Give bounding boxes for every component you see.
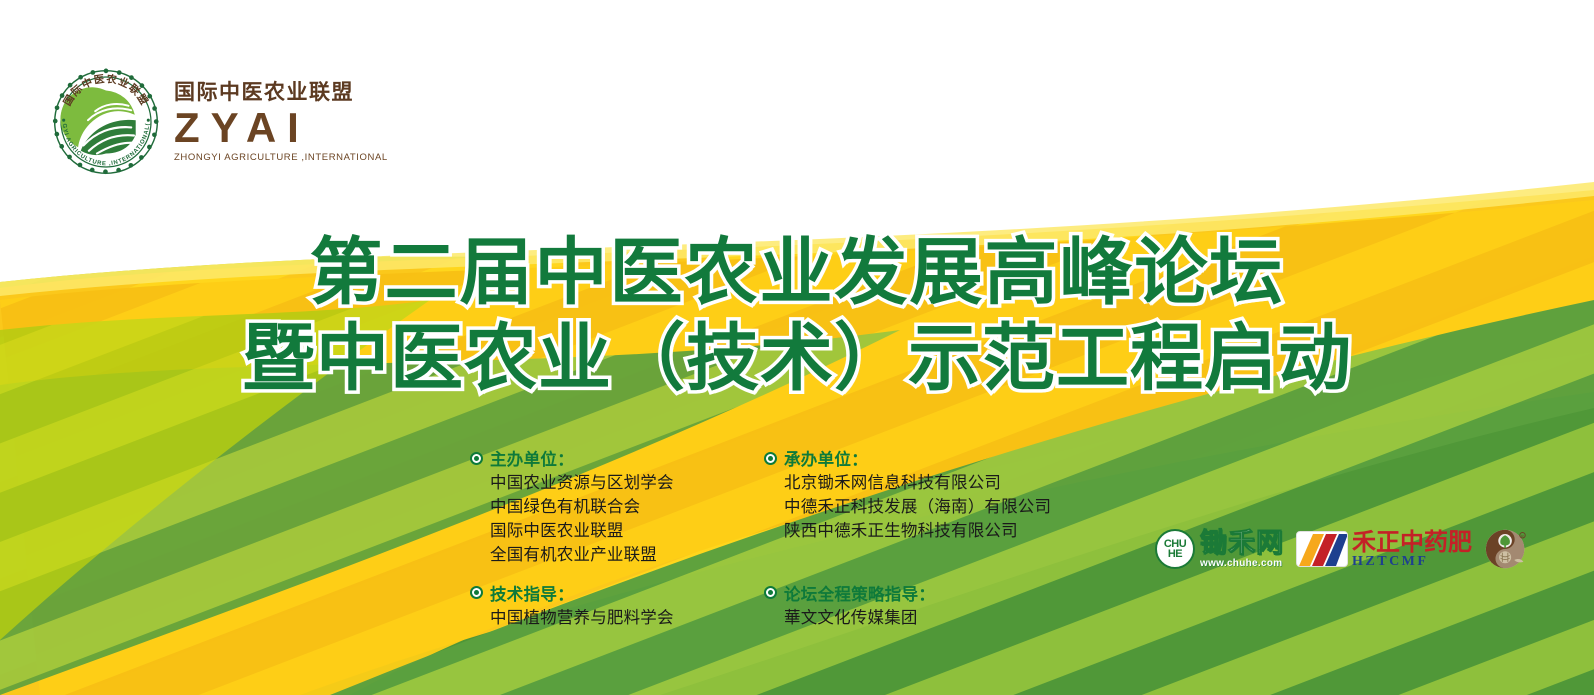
info-group-tech-guidance: 技术指导： 中国植物营养与肥料学会	[470, 581, 740, 630]
chuhe-wordmark: 锄禾网 www.chuhe.com	[1200, 530, 1284, 569]
tree-root-emblem-icon: R	[1484, 527, 1528, 571]
chuhe-mark-text: CHU HE	[1157, 539, 1193, 560]
chuhe-url: www.chuhe.com	[1200, 558, 1284, 569]
sponsor-logos: CHU HE 锄禾网 www.chuhe.com 禾正中药肥 HZTCMF	[1155, 527, 1528, 571]
group-items: 中国农业资源与区划学会 中国绿色有机联合会 国际中医农业联盟 全国有机农业产业联…	[470, 471, 740, 567]
spacer	[470, 567, 740, 581]
zyai-seal-icon: 国际中医农业联盟 ZHONGYI AGRICULTURE ,INTERNATIO…	[52, 68, 160, 176]
logo-acronym: ZYAI	[174, 107, 310, 149]
hezheng-name-cn: 禾正中药肥	[1352, 530, 1472, 554]
logo-name-en: ZHONGYI AGRICULTURE ,INTERNATIONAL	[174, 152, 388, 163]
list-item: 中德禾正科技发展（海南）有限公司	[784, 495, 1064, 519]
list-item: 中国植物营养与肥料学会	[490, 606, 740, 630]
group-heading-text: 论坛全程策略指导：	[784, 581, 935, 605]
list-item: 中国绿色有机联合会	[490, 495, 740, 519]
page-title: 第二届中医农业发展高峰论坛 暨中医农业（技术）示范工程启动	[0, 232, 1594, 400]
group-items: 北京锄禾网信息科技有限公司 中德禾正科技发展（海南）有限公司 陕西中德禾正生物科…	[764, 471, 1064, 543]
hezheng-diagonal-mark-icon	[1296, 531, 1348, 567]
logo-name-cn: 国际中医农业联盟	[174, 81, 354, 104]
logo-wordmark: 国际中医农业联盟 ZYAI ZHONGYI AGRICULTURE ,INTER…	[174, 81, 388, 162]
sponsor-chuhe: CHU HE 锄禾网 www.chuhe.com	[1155, 529, 1284, 569]
sponsor-tcm-circle: R	[1484, 527, 1528, 571]
info-group-hosts: 主办单位： 中国农业资源与区划学会 中国绿色有机联合会 国际中医农业联盟 全国有…	[470, 446, 740, 567]
hezheng-name-en: HZTCMF	[1352, 555, 1472, 569]
spacer	[764, 543, 1064, 581]
info-column-right: 承办单位： 北京锄禾网信息科技有限公司 中德禾正科技发展（海南）有限公司 陕西中…	[764, 446, 1064, 630]
title-line-1: 第二届中医农业发展高峰论坛	[0, 232, 1594, 314]
list-item: 北京锄禾网信息科技有限公司	[784, 471, 1064, 495]
chuhe-name-cn: 锄禾网	[1200, 530, 1284, 557]
list-item: 中国农业资源与区划学会	[490, 471, 740, 495]
group-heading-text: 主办单位：	[490, 446, 574, 470]
bullet-icon	[764, 586, 777, 599]
hezheng-wordmark: 禾正中药肥 HZTCMF	[1352, 530, 1472, 569]
group-heading-row: 技术指导：	[470, 581, 740, 605]
bullet-icon	[470, 586, 483, 599]
group-heading-row: 主办单位：	[470, 446, 740, 470]
group-heading-text: 技术指导：	[490, 581, 574, 605]
list-item: 陕西中德禾正生物科技有限公司	[784, 519, 1064, 543]
group-heading-text: 承办单位：	[784, 446, 868, 470]
list-item: 国际中医农业联盟	[490, 519, 740, 543]
group-items: 中国植物营养与肥料学会	[470, 606, 740, 630]
info-column-left: 主办单位： 中国农业资源与区划学会 中国绿色有机联合会 国际中医农业联盟 全国有…	[470, 446, 740, 630]
group-heading-row: 承办单位：	[764, 446, 1064, 470]
title-line-2: 暨中医农业（技术）示范工程启动	[0, 318, 1594, 400]
bullet-icon	[470, 452, 483, 465]
info-group-organizers: 承办单位： 北京锄禾网信息科技有限公司 中德禾正科技发展（海南）有限公司 陕西中…	[764, 446, 1064, 543]
bullet-icon	[764, 452, 777, 465]
info-group-strategy-guidance: 论坛全程策略指导： 華文文化传媒集团	[764, 581, 1064, 630]
list-item: 全国有机农业产业联盟	[490, 543, 740, 567]
group-heading-row: 论坛全程策略指导：	[764, 581, 1064, 605]
zyai-logo-lockup: 国际中医农业联盟 ZHONGYI AGRICULTURE ,INTERNATIO…	[52, 68, 388, 176]
sponsor-hezheng: 禾正中药肥 HZTCMF	[1296, 530, 1472, 569]
svg-text:R: R	[1521, 534, 1524, 538]
organizer-info: 主办单位： 中国农业资源与区划学会 中国绿色有机联合会 国际中医农业联盟 全国有…	[470, 446, 1064, 630]
chuhe-circle-icon: CHU HE	[1155, 529, 1195, 569]
group-items: 華文文化传媒集团	[764, 606, 1064, 630]
conference-banner: 国际中医农业联盟 ZHONGYI AGRICULTURE ,INTERNATIO…	[0, 0, 1594, 695]
list-item: 華文文化传媒集团	[784, 606, 1064, 630]
